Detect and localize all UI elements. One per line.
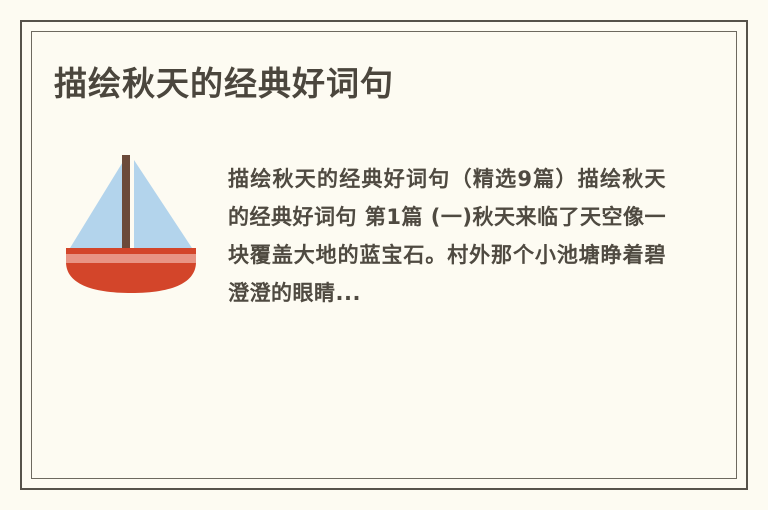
hull-stripe-shape — [66, 254, 196, 263]
mast-shape — [122, 155, 130, 255]
page-title: 描绘秋天的经典好词句 — [54, 62, 394, 106]
sail-front-shape — [70, 160, 124, 248]
sail-rear-shape — [134, 160, 192, 248]
page-root: 描绘秋天的经典好词句 描绘秋天的经典好词句（精选9篇）描绘秋天的经典好词句 第1… — [0, 0, 768, 510]
article-excerpt: 描绘秋天的经典好词句（精选9篇）描绘秋天的经典好词句 第1篇 (一)秋天来临了天… — [228, 160, 666, 312]
article-card[interactable]: 描绘秋天的经典好词句（精选9篇）描绘秋天的经典好词句 第1篇 (一)秋天来临了天… — [54, 150, 694, 410]
sailboat-icon — [62, 150, 212, 295]
